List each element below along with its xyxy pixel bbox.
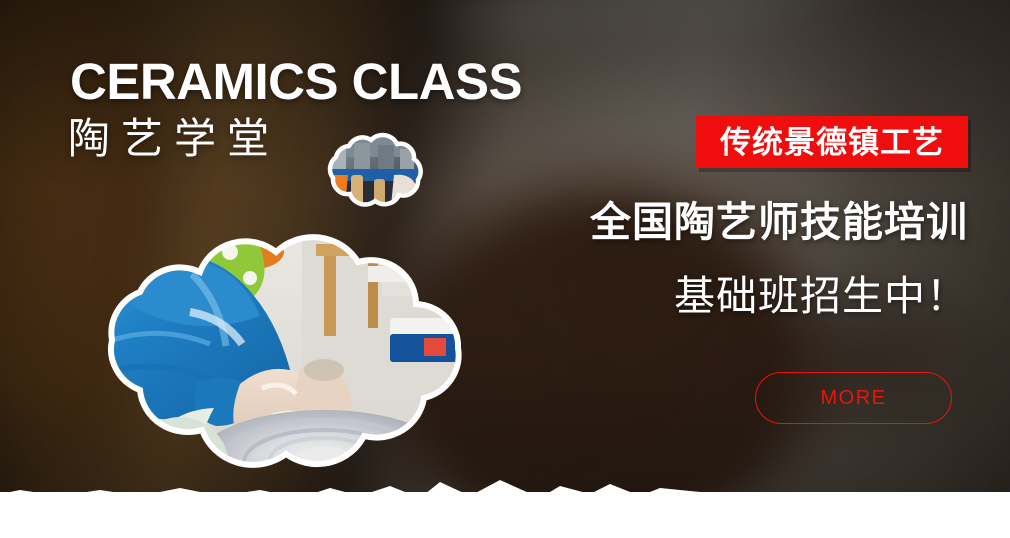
ceramics-class-banner: CERAMICS CLASS 陶艺学堂 [0, 0, 1010, 538]
cloud-photo-small [318, 131, 428, 216]
tradition-badge: 传统景德镇工艺 [696, 116, 968, 168]
cloud-photo-large [72, 238, 532, 510]
more-button-label: MORE [821, 388, 887, 408]
bottom-white-strip [0, 492, 1010, 538]
cloud-small-shape [318, 131, 428, 216]
cloud-large-shape [72, 238, 532, 510]
headline-primary: 全国陶艺师技能培训 [568, 198, 968, 246]
headline-secondary: 基础班招生中！ [568, 272, 968, 320]
page-title-english: CERAMICS CLASS [70, 54, 522, 110]
more-button[interactable]: MORE [755, 372, 952, 424]
tradition-badge-label: 传统景德镇工艺 [720, 127, 944, 158]
page-title-chinese: 陶艺学堂 [68, 113, 280, 165]
